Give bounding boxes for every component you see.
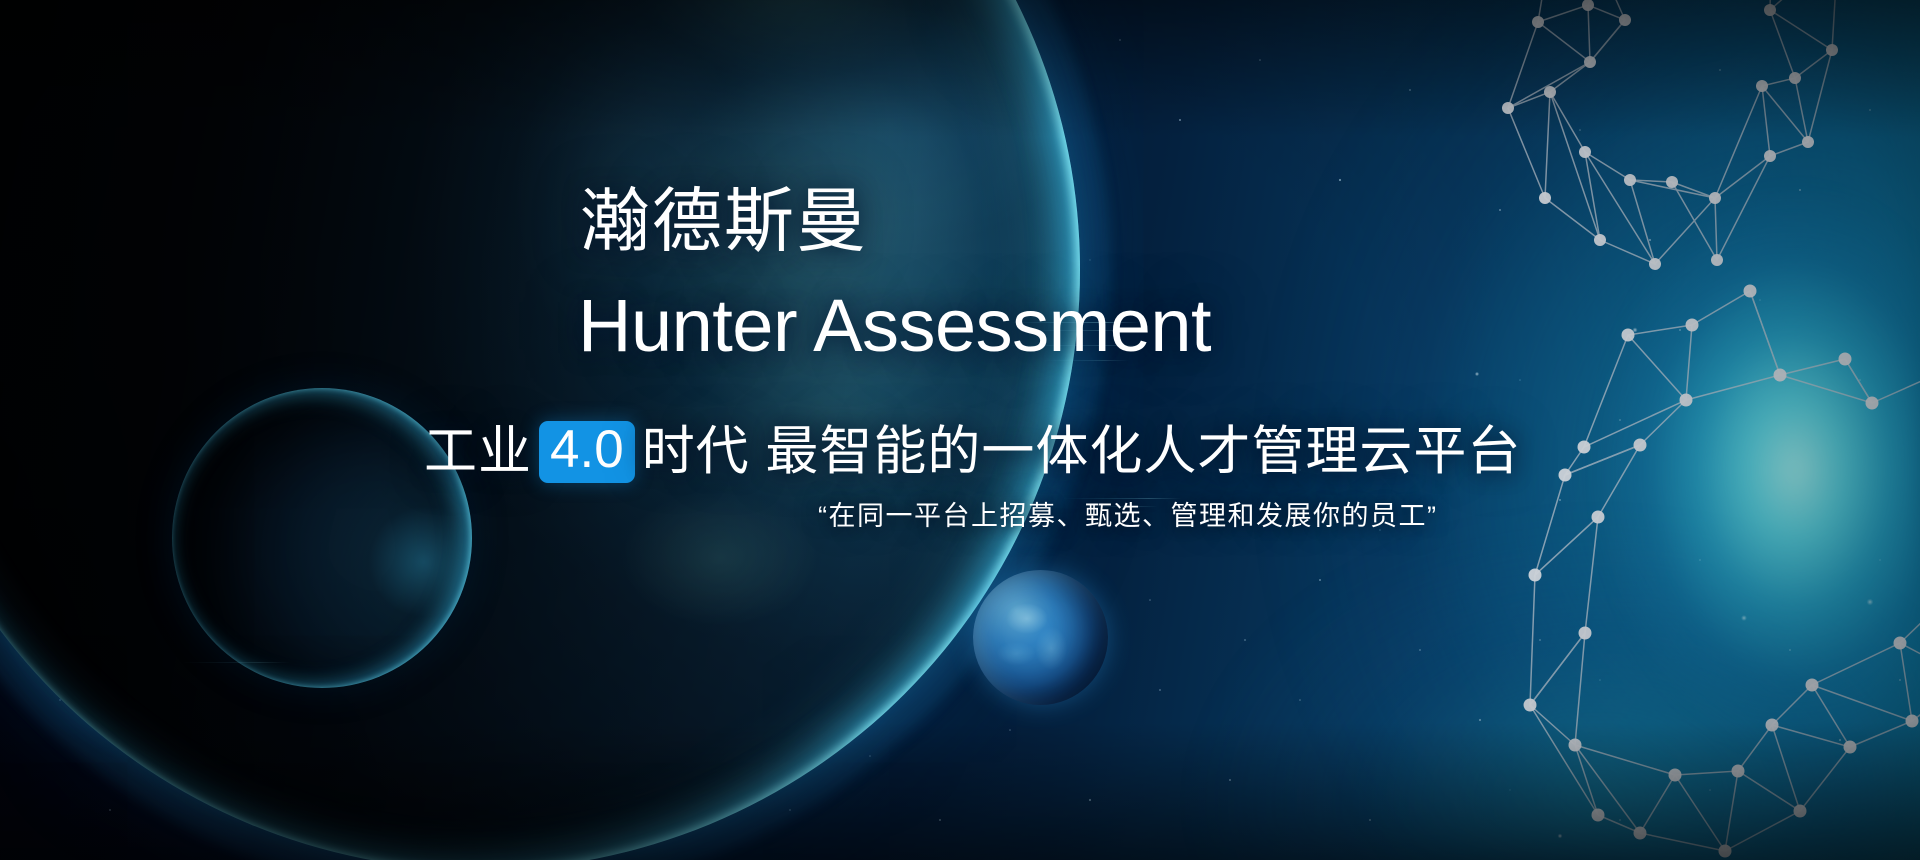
tagline: 工业 4.0 时代 最智能的一体化人才管理云平台	[424, 421, 1521, 483]
tagline-quote: “在同一平台上招募、甄选、管理和发展你的员工”	[818, 499, 1437, 534]
hero-banner: 瀚德斯曼 Hunter Assessment 工业 4.0 时代 最智能的一体化…	[0, 0, 1920, 860]
hero-text-block: 瀚德斯曼 Hunter Assessment 工业 4.0 时代 最智能的一体化…	[0, 0, 1920, 860]
brand-title-english: Hunter Assessment	[578, 289, 1211, 363]
brand-title-chinese: 瀚德斯曼	[580, 186, 868, 256]
tagline-prefix: 工业	[424, 421, 532, 482]
tagline-suffix: 时代 最智能的一体化人才管理云平台	[642, 421, 1522, 482]
industry-version-badge: 4.0	[539, 421, 635, 483]
